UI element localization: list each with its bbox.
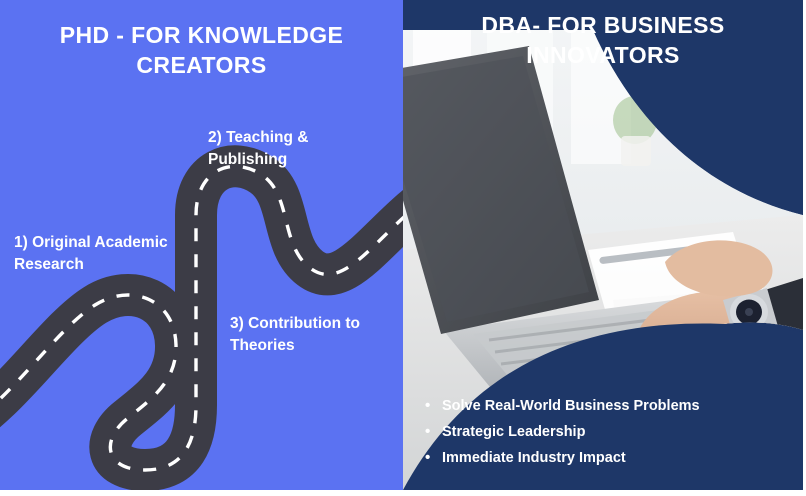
right-panel-dba: DBA- FOR BUSINESS INNOVATORS Solve Real-…: [403, 0, 803, 490]
list-item: Strategic Leadership: [425, 420, 700, 446]
step-1-line-2: Research: [14, 254, 204, 276]
step-3-line-1: 3) Contribution to: [230, 313, 395, 335]
dba-benefit-list: Solve Real-World Business Problems Strat…: [425, 394, 700, 471]
step-label-2: 2) Teaching & Publishing: [208, 127, 388, 171]
right-title-line-2: INNOVATORS: [417, 40, 789, 70]
left-panel-phd: PHD - FOR KNOWLEDGE CREATORS 1) Original…: [0, 0, 403, 490]
list-item: Solve Real-World Business Problems: [425, 394, 700, 420]
photo-plant-pot: [621, 136, 651, 166]
step-1-line-1: 1) Original Academic: [14, 232, 204, 254]
step-2-line-1: 2) Teaching &: [208, 127, 388, 149]
list-item: Immediate Industry Impact: [425, 446, 700, 472]
left-title-line-2: CREATORS: [18, 50, 385, 80]
step-2-line-2: Publishing: [208, 149, 388, 171]
left-title-line-1: PHD - FOR KNOWLEDGE: [18, 20, 385, 50]
infographic-root: PHD - FOR KNOWLEDGE CREATORS 1) Original…: [0, 0, 806, 496]
right-panel-title: DBA- FOR BUSINESS INNOVATORS: [417, 10, 789, 71]
step-label-1: 1) Original Academic Research: [14, 232, 204, 276]
step-3-line-2: Theories: [230, 335, 395, 357]
step-label-3: 3) Contribution to Theories: [230, 313, 395, 357]
left-panel-title: PHD - FOR KNOWLEDGE CREATORS: [18, 20, 385, 81]
right-title-line-1: DBA- FOR BUSINESS: [417, 10, 789, 40]
